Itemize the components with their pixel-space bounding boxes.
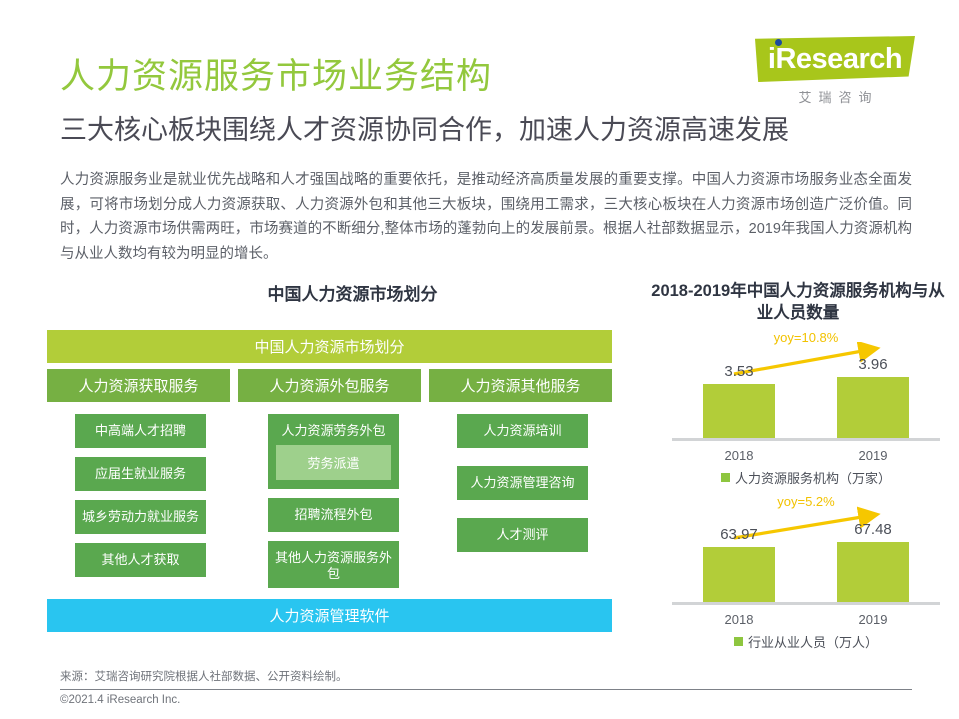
- bar-rect: [703, 547, 775, 602]
- axis-baseline: [672, 602, 940, 605]
- page-title: 人力资源服务市场业务结构: [60, 48, 492, 99]
- diagram-category-row: 人力资源获取服务 人力资源外包服务 人力资源其他服务: [47, 369, 612, 402]
- leaf-box: 人才测评: [457, 518, 588, 552]
- logo-chinese-name: 艾瑞咨询: [755, 87, 915, 106]
- x-axis-labels-agencies: 2018 2019: [672, 448, 940, 463]
- category-box-outsourcing: 人力资源外包服务: [238, 369, 421, 402]
- x-tick-label: 2018: [703, 612, 775, 627]
- bar-value-label: 67.48: [854, 521, 892, 538]
- logo-mark: iResearch: [755, 36, 915, 82]
- page-subtitle: 三大核心板块围绕人才资源协同合作，加速人力资源高速发展: [60, 108, 789, 147]
- plot-area-employees: yoy=5.2% 63.97 67.48: [672, 494, 940, 602]
- leaf-box: 中高端人才招聘: [75, 414, 206, 448]
- bar-rect: [837, 377, 909, 438]
- legend-agencies: 人力资源服务机构（万家）: [672, 468, 940, 487]
- bar-column-2019: 3.96: [837, 330, 909, 438]
- x-tick-label: 2018: [703, 448, 775, 463]
- legend-label: 人力资源服务机构（万家）: [735, 468, 891, 487]
- leaf-box: 其他人力资源服务外包: [268, 541, 399, 588]
- copyright-note: ©2021.4 iResearch Inc.: [60, 694, 180, 706]
- diagram-top-bar: 中国人力资源市场划分: [47, 330, 612, 363]
- bar-rect: [703, 384, 775, 438]
- bar-value-label: 3.96: [858, 356, 887, 373]
- leaf-box: 城乡劳动力就业服务: [75, 500, 206, 534]
- diagram-column-outsourcing: 人力资源劳务外包 劳务派遣 招聘流程外包 其他人力资源服务外包: [242, 414, 425, 588]
- leaf-group-labor-outsourcing: 人力资源劳务外包 劳务派遣: [268, 414, 399, 489]
- plot-area-agencies: yoy=10.8% 3.53 3.96: [672, 330, 940, 438]
- bar-value-label: 63.97: [720, 526, 758, 543]
- bars-employees: 63.97 67.48: [672, 494, 940, 602]
- axis-baseline: [672, 438, 940, 441]
- legend-label: 行业从业人员（万人）: [748, 632, 878, 651]
- category-box-other: 人力资源其他服务: [429, 369, 612, 402]
- chart-section-title: 2018-2019年中国人力资源服务机构与从业人员数量: [648, 280, 948, 324]
- bar-column-2018: 3.53: [703, 330, 775, 438]
- bar-chart-employees: yoy=5.2% 63.97 67.48 2018 2019 行业从业人: [672, 494, 940, 651]
- market-structure-diagram: 中国人力资源市场划分 人力资源获取服务 人力资源外包服务 人力资源其他服务 中高…: [47, 330, 612, 632]
- source-note: 来源：艾瑞咨询研究院根据人社部数据、公开资料绘制。: [60, 668, 912, 690]
- leaf-box: 其他人才获取: [75, 543, 206, 577]
- diagram-bottom-bar: 人力资源管理软件: [47, 599, 612, 632]
- x-tick-label: 2019: [837, 448, 909, 463]
- legend-swatch-icon: [734, 637, 743, 646]
- x-tick-label: 2019: [837, 612, 909, 627]
- iresearch-logo: iResearch 艾瑞咨询: [755, 36, 915, 106]
- diagram-column-other: 人力资源培训 人力资源管理咨询 人才测评: [433, 414, 612, 552]
- body-paragraph: 人力资源服务业是就业优先战略和人才强国战略的重要依托，是推动经济高质量发展的重要…: [60, 168, 912, 266]
- category-box-acquisition: 人力资源获取服务: [47, 369, 230, 402]
- leaf-box: 人力资源培训: [457, 414, 588, 448]
- bar-column-2019: 67.48: [837, 494, 909, 602]
- legend-employees: 行业从业人员（万人）: [672, 632, 940, 651]
- diagram-columns: 中高端人才招聘 应届生就业服务 城乡劳动力就业服务 其他人才获取 人力资源劳务外…: [47, 414, 612, 588]
- logo-wordmark: iResearch: [755, 43, 915, 75]
- bar-rect: [837, 542, 909, 602]
- bars-agencies: 3.53 3.96: [672, 330, 940, 438]
- leaf-box: 人力资源管理咨询: [457, 466, 588, 500]
- leaf-nested-dispatch: 劳务派遣: [276, 445, 391, 480]
- leaf-box: 应届生就业服务: [75, 457, 206, 491]
- bar-column-2018: 63.97: [703, 494, 775, 602]
- diagram-section-title: 中国人力资源市场划分: [45, 280, 660, 305]
- legend-swatch-icon: [721, 473, 730, 482]
- leaf-group-label: 人力资源劳务外包: [276, 423, 391, 439]
- diagram-column-acquisition: 中高端人才招聘 应届生就业服务 城乡劳动力就业服务 其他人才获取: [47, 414, 234, 577]
- logo-brand: Research: [775, 43, 902, 75]
- leaf-box: 招聘流程外包: [268, 498, 399, 532]
- x-axis-labels-employees: 2018 2019: [672, 612, 940, 627]
- bar-chart-agencies: yoy=10.8% 3.53 3.96 2018 2019 人力资源服务: [672, 330, 940, 487]
- bar-value-label: 3.53: [724, 363, 753, 380]
